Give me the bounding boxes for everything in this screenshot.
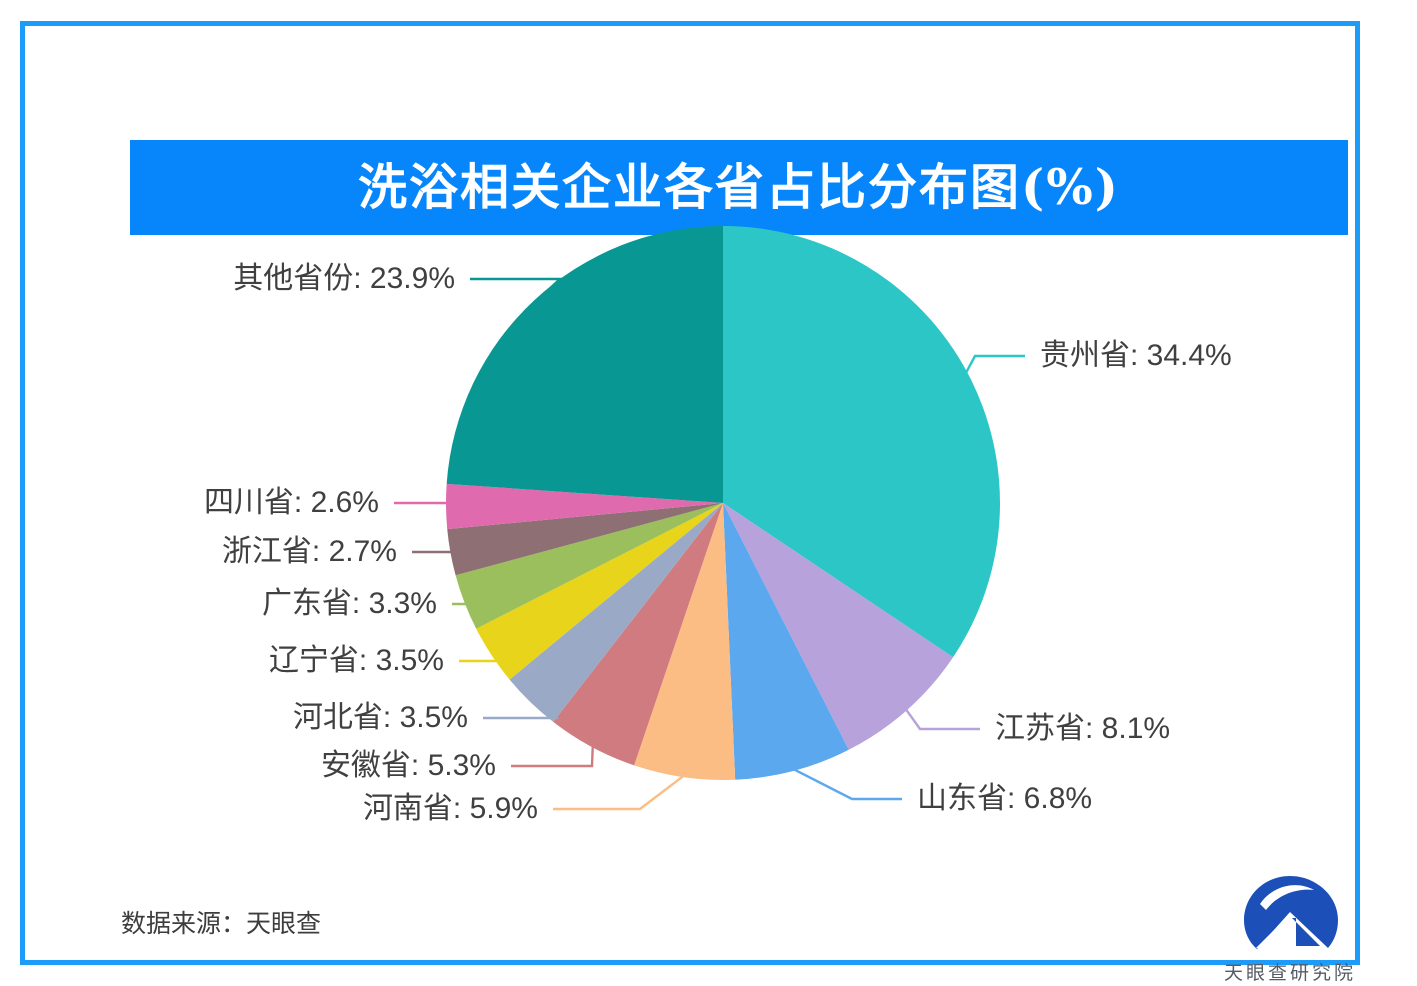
source-note: 数据来源：天眼查 bbox=[121, 904, 321, 940]
outer-frame: 洗浴相关企业各省占比分布图(%) 数据来源：天眼查 天眼查研究院 bbox=[20, 21, 1360, 965]
tianyancha-logo-icon bbox=[1238, 874, 1342, 956]
brand-logo: 天眼查研究院 bbox=[1210, 874, 1370, 984]
logo-wordmark: 天眼查研究院 bbox=[1210, 958, 1370, 985]
title-banner: 洗浴相关企业各省占比分布图(%) bbox=[130, 140, 1348, 235]
page-title: 洗浴相关企业各省占比分布图(%) bbox=[358, 163, 1120, 212]
infographic-root: 洗浴相关企业各省占比分布图(%) 数据来源：天眼查 天眼查研究院 贵州省: 34… bbox=[0, 0, 1417, 986]
